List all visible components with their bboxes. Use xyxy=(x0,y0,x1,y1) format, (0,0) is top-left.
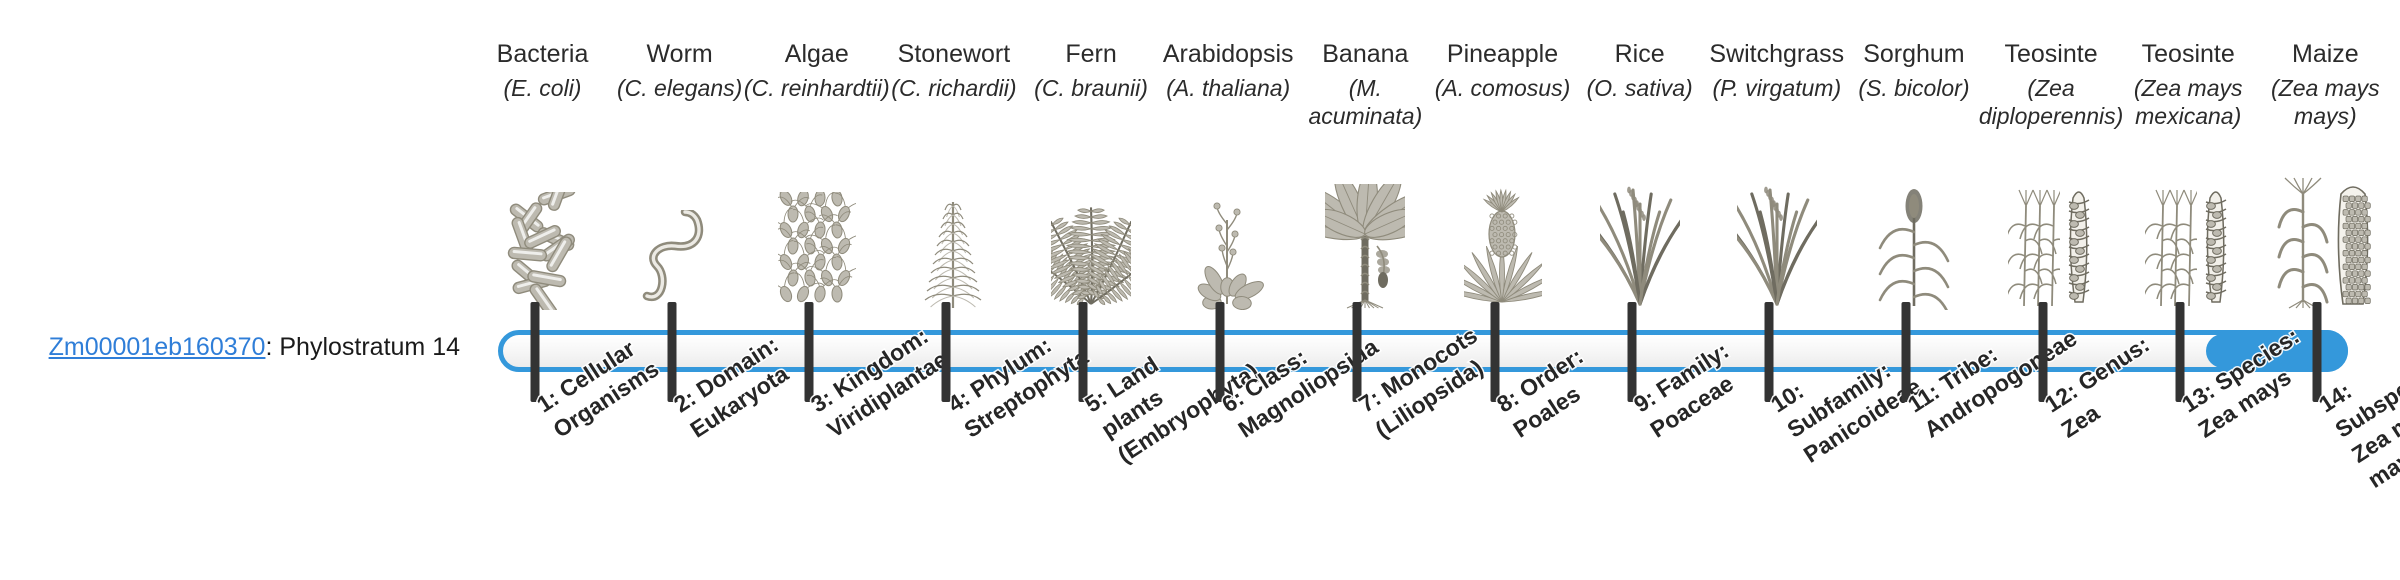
axis-tick-6 xyxy=(1216,302,1225,402)
species-column-stonewort-4: Stonewort(C. richardii) xyxy=(885,0,1022,580)
species-latin-name: (M. acuminata) xyxy=(1289,74,1442,130)
species-common-name: Maize xyxy=(2245,40,2400,69)
gene-phylostratum-label: Zm00001eb160370: Phylostratum 14 xyxy=(0,332,470,362)
species-latin-name: (C. reinhardtii) xyxy=(740,74,893,102)
species-latin-name: (C. braunii) xyxy=(1015,74,1168,102)
fern-frond-illustration xyxy=(1023,168,1160,310)
species-column-fern-5: Fern(C. braunii) xyxy=(1023,0,1160,580)
species-column-algae-3: Algae(C. reinhardtii) xyxy=(748,0,885,580)
axis-tick-12 xyxy=(2039,302,2048,402)
species-column-teosinte-13: Teosinte(Zea mays mexicana) xyxy=(2120,0,2257,580)
rice-plant-illustration xyxy=(1571,168,1708,310)
species-latin-name: (A. thaliana) xyxy=(1152,74,1305,102)
species-column-banana-7: Banana(M. acuminata) xyxy=(1297,0,1434,580)
axis-tick-11 xyxy=(1902,302,1911,402)
switchgrass-illustration xyxy=(1708,168,1845,310)
species-latin-name: (A. comosus) xyxy=(1426,74,1579,102)
species-column-switchgrass-10: Switchgrass(P. virgatum) xyxy=(1708,0,1845,580)
axis-tick-14 xyxy=(2313,302,2322,402)
gene-id-link[interactable]: Zm00001eb160370 xyxy=(49,333,266,361)
axis-tick-5 xyxy=(1079,302,1088,402)
species-column-teosinte-12: Teosinte(Zea diploperennis) xyxy=(1983,0,2120,580)
species-latin-name: (C. elegans) xyxy=(603,74,756,102)
species-latin-name: (Zea mays mays) xyxy=(2249,74,2400,130)
phylostratum-chart: Zm00001eb160370: Phylostratum 14 Bacteri… xyxy=(0,0,2400,580)
axis-tick-3 xyxy=(804,302,813,402)
nematode-worm-illustration xyxy=(611,168,748,310)
chlamydomonas-algae-illustration xyxy=(748,168,885,310)
axis-tick-1 xyxy=(530,302,539,402)
species-column-worm-2: Worm(C. elegans) xyxy=(611,0,748,580)
axis-tick-4 xyxy=(942,302,951,402)
teosinte-plant-and-ear-illustration xyxy=(1983,168,2120,310)
axis-tick-13 xyxy=(2176,302,2185,402)
axis-tick-7 xyxy=(1353,302,1362,402)
maize-plant-and-cob-illustration xyxy=(2257,168,2394,310)
axis-tick-9 xyxy=(1627,302,1636,402)
species-latin-name: (P. virgatum) xyxy=(1700,74,1853,102)
stonewort-illustration xyxy=(885,168,1022,310)
axis-tick-2 xyxy=(667,302,676,402)
axis-tick-10 xyxy=(1764,302,1773,402)
species-column-rice-9: Rice(O. sativa) xyxy=(1571,0,1708,580)
species-latin-name: (O. sativa) xyxy=(1563,74,1716,102)
species-latin-name: (Zea mays mexicana) xyxy=(2112,74,2265,130)
pineapple-plant-illustration xyxy=(1434,168,1571,310)
species-column-arabidopsis-6: Arabidopsis(A. thaliana) xyxy=(1160,0,1297,580)
sorghum-plant-illustration xyxy=(1845,168,1982,310)
arabidopsis-rosette-illustration xyxy=(1160,168,1297,310)
axis-tick-8 xyxy=(1490,302,1499,402)
bacteria-rods-illustration xyxy=(474,168,611,310)
species-column-pineapple-8: Pineapple(A. comosus) xyxy=(1434,0,1571,580)
species-latin-name: (E. coli) xyxy=(466,74,619,102)
species-latin-name: (C. richardii) xyxy=(877,74,1030,102)
species-latin-name: (S. bicolor) xyxy=(1837,74,1990,102)
species-column-strip: Bacteria(E. coli)Worm(C. elegans)Algae(C… xyxy=(474,0,2394,580)
banana-plant-illustration xyxy=(1297,168,1434,310)
species-column-sorghum-11: Sorghum(S. bicolor) xyxy=(1845,0,1982,580)
teosinte-plant-and-ear-illustration xyxy=(2120,168,2257,310)
species-column-bacteria-1: Bacteria(E. coli) xyxy=(474,0,611,580)
phylostratum-value-text: Phylostratum 14 xyxy=(279,333,460,361)
species-latin-name: (Zea diploperennis) xyxy=(1975,74,2128,130)
species-column-maize-14: Maize(Zea mays mays) xyxy=(2257,0,2394,580)
gene-label-separator: : xyxy=(265,333,279,361)
